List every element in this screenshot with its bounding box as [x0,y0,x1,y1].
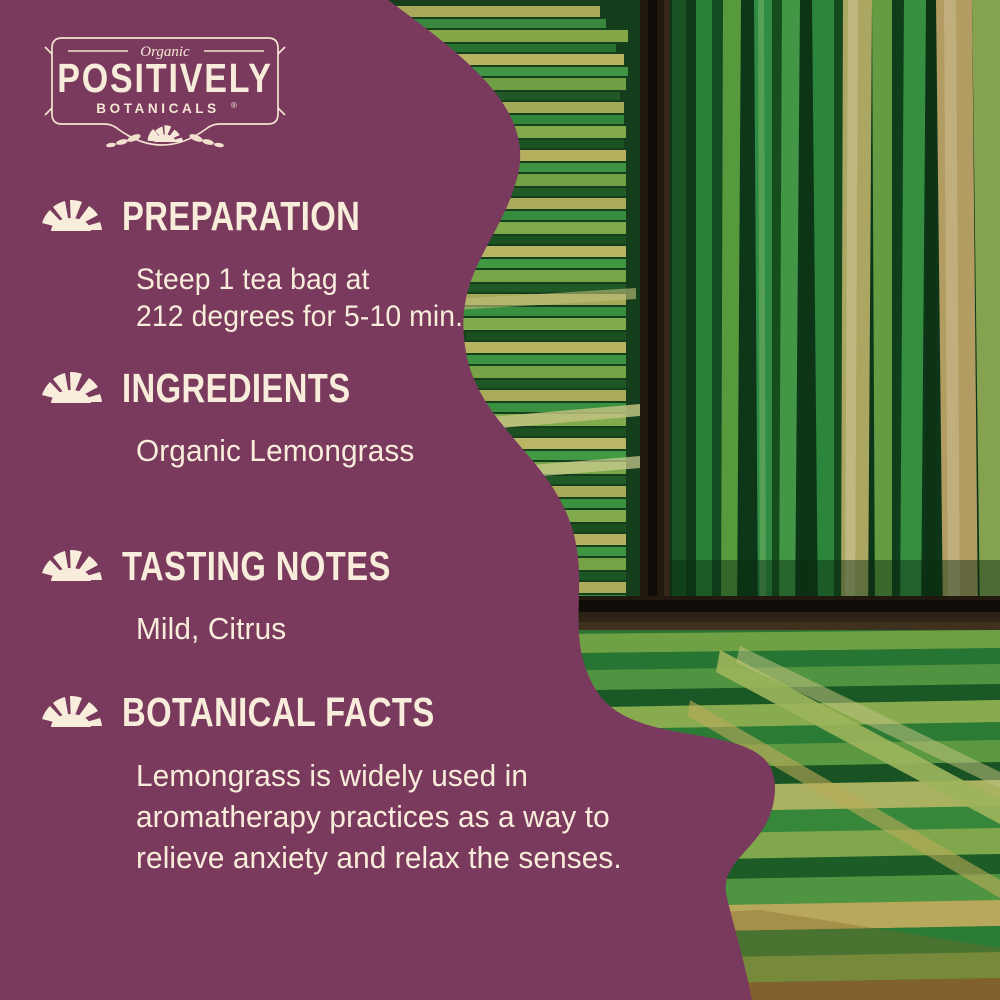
fan-shell-icon [38,694,104,731]
section-title: PREPARATION [122,196,360,237]
section-header: INGREDIENTS [38,368,426,409]
section-title: INGREDIENTS [122,368,350,409]
section-botanical-facts: BOTANICAL FACTS Lemongrass is widely use… [38,692,642,879]
section-title: TASTING NOTES [122,546,391,587]
fan-shell-icon [38,370,104,407]
fan-shell-ornament-icon [148,125,183,142]
brand-logo: Organic POSITIVELY BOTANICALS ® [34,26,296,154]
section-body: Organic Lemongrass [136,431,414,470]
fan-shell-icon [38,548,104,585]
section-ingredients: INGREDIENTS Organic Lemongrass [38,368,426,470]
logo-wordmark: POSITIVELY [57,55,272,101]
section-line: Mild, Citrus [136,609,445,648]
section-body: Steep 1 tea bag at 212 degrees for 5-10 … [136,261,463,335]
section-line: Lemongrass is widely used in [136,755,622,796]
section-line: 212 degrees for 5-10 min. [136,298,463,335]
section-title: BOTANICAL FACTS [122,692,435,733]
logo-registered-mark: ® [231,101,237,110]
leaf-sprig-right-icon [188,133,224,148]
section-tasting-notes: TASTING NOTES Mild, Citrus [38,546,458,648]
section-header: PREPARATION [38,196,477,237]
logo-subwordmark: BOTANICALS [96,101,220,116]
fan-shell-icon [38,198,104,235]
product-info-card: Organic POSITIVELY BOTANICALS ® [0,0,1000,1000]
section-header: TASTING NOTES [38,546,458,587]
section-line: Organic Lemongrass [136,431,414,470]
section-preparation: PREPARATION Steep 1 tea bag at 212 degre… [38,196,477,335]
section-line: relieve anxiety and relax the senses. [136,837,622,878]
section-line: aromatherapy practices as a way to [136,796,622,837]
section-body: Lemongrass is widely used in aromatherap… [136,755,622,879]
section-line: Steep 1 tea bag at [136,261,463,298]
leaf-sprig-left-icon [106,133,142,148]
section-body: Mild, Citrus [136,609,445,648]
section-header: BOTANICAL FACTS [38,692,642,733]
